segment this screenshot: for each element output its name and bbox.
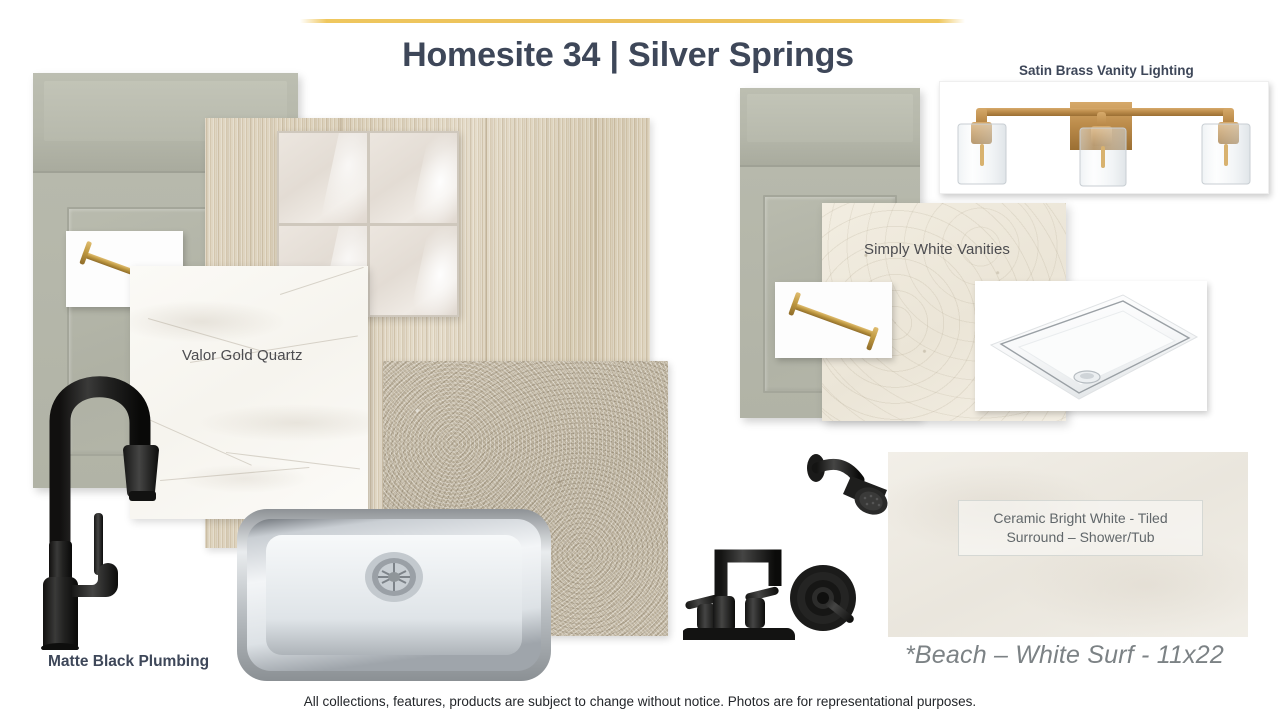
shower-surround-label-box: Ceramic Bright White - Tiled Surround – … <box>958 500 1203 556</box>
product-kitchen-sink <box>234 505 554 687</box>
vanity-light-fixture-icon <box>940 82 1269 194</box>
beach-tile-caption: *Beach – White Surf - 11x22 <box>905 641 1224 670</box>
shower-surround-label: Ceramic Bright White - Tiled Surround – … <box>969 509 1192 547</box>
card-undermount-lav-sink <box>975 281 1207 411</box>
cabinet-top-rail <box>740 88 920 167</box>
brass-bar-pull-icon <box>775 282 892 358</box>
shower-valve-trim-icon <box>783 554 869 648</box>
header-gold-rule <box>300 19 965 23</box>
card-vanity-light-fixture <box>939 81 1269 194</box>
vanities-label: Simply White Vanities <box>864 241 1010 258</box>
tile-cell <box>279 133 367 223</box>
product-shower-valve-trim <box>783 554 869 648</box>
label-satin-brass-vanity-lighting: Satin Brass Vanity Lighting <box>1019 63 1194 78</box>
quartz-vein <box>226 452 360 469</box>
selection-board: Homesite 34 | Silver Springs <box>0 0 1280 720</box>
label-matte-black-plumbing: Matte Black Plumbing <box>48 653 209 671</box>
footer-disclaimer: All collections, features, products are … <box>0 694 1280 709</box>
tile-cell <box>370 226 458 316</box>
quartz-vein <box>280 267 364 295</box>
showerhead-icon <box>803 446 899 524</box>
product-kitchen-faucet <box>24 345 184 650</box>
undermount-lav-sink-icon <box>975 281 1207 411</box>
quartz-label: Valor Gold Quartz <box>182 347 303 364</box>
product-showerhead <box>803 446 899 524</box>
card-brass-bar-pull-bath <box>775 282 892 358</box>
swatch-shower-surround: Ceramic Bright White - Tiled Surround – … <box>888 452 1248 637</box>
tile-cell <box>370 133 458 223</box>
kitchen-sink-icon <box>234 505 554 687</box>
kitchen-faucet-icon <box>24 345 184 650</box>
